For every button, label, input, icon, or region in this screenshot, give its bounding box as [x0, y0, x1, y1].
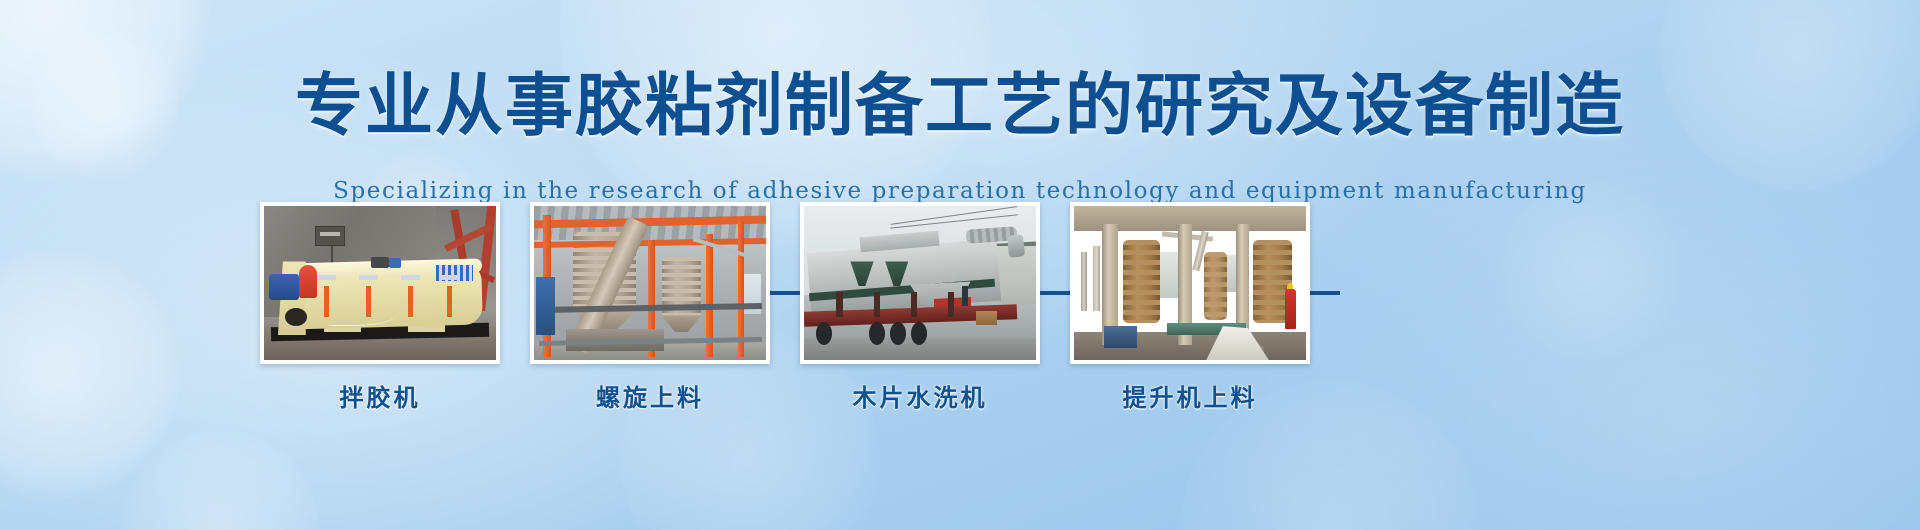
equipment-showcase-row: 拌胶机: [0, 202, 1920, 442]
equipment-photo-elevator-feeding[interactable]: [1070, 202, 1310, 364]
equipment-card-screw-feeding[interactable]: 螺旋上料: [530, 202, 770, 413]
banner-subheadline: Specializing in the research of adhesive…: [0, 178, 1920, 204]
equipment-caption: 提升机上料: [1070, 378, 1310, 413]
equipment-card-chip-washer[interactable]: 木片水洗机: [800, 202, 1040, 413]
equipment-photo-glue-mixer[interactable]: [260, 202, 500, 364]
equipment-photo-chip-washer[interactable]: [800, 202, 1040, 364]
equipment-card-elevator-feeding[interactable]: 提升机上料: [1070, 202, 1310, 413]
equipment-caption: 木片水洗机: [800, 378, 1040, 413]
equipment-caption: 拌胶机: [260, 378, 500, 413]
bokeh-circle: [120, 430, 320, 530]
equipment-card-glue-mixer[interactable]: 拌胶机: [260, 202, 500, 413]
equipment-photo-screw-feeding[interactable]: [530, 202, 770, 364]
equipment-caption: 螺旋上料: [530, 378, 770, 413]
banner-headline: 专业从事胶粘剂制备工艺的研究及设备制造: [0, 50, 1920, 149]
promotional-banner: 专业从事胶粘剂制备工艺的研究及设备制造 Specializing in the …: [0, 0, 1920, 530]
